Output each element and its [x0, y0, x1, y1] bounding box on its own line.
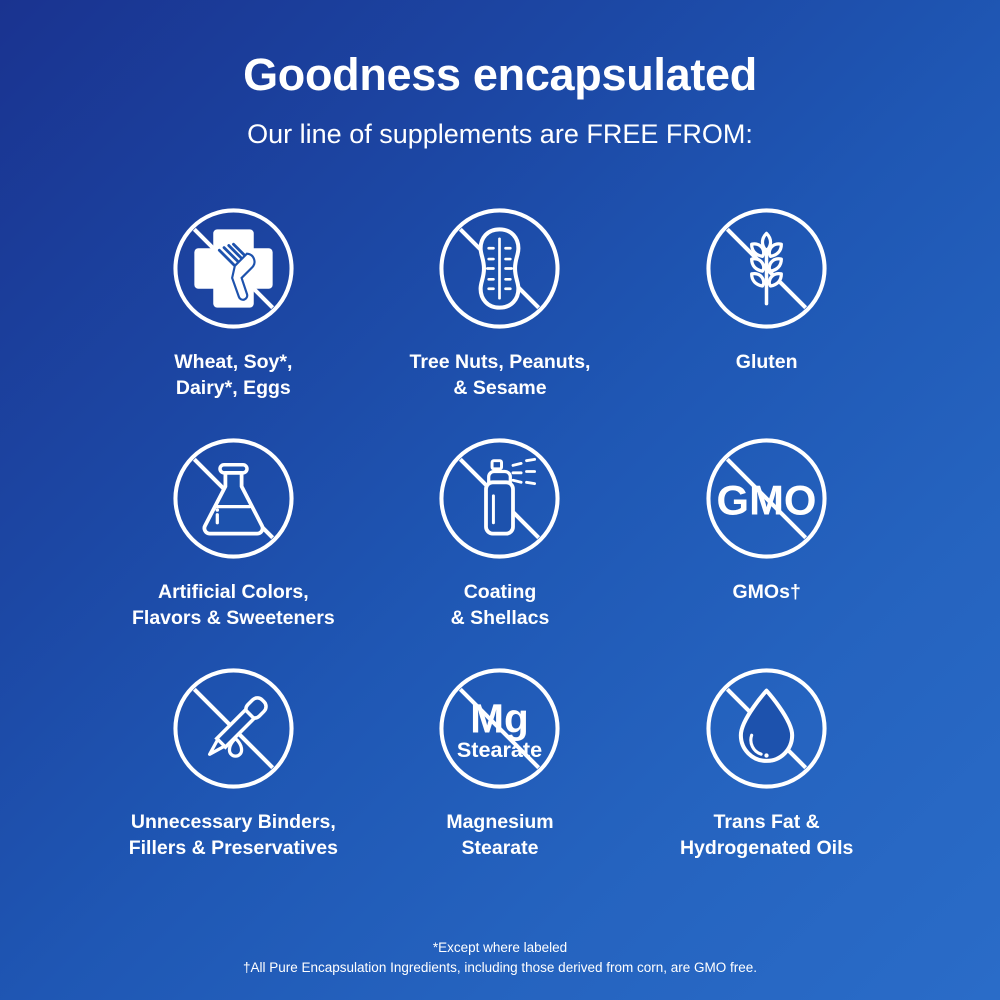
no-wheat-stalk-icon	[699, 201, 834, 336]
badge-label: Unnecessary Binders, Fillers & Preservat…	[129, 810, 338, 862]
free-from-poster: Goodness encapsulated Our line of supple…	[0, 0, 1000, 1000]
badge-nuts: Tree Nuts, Peanuts, & Sesame	[367, 201, 634, 431]
badge-coating: Coating & Shellacs	[367, 431, 634, 661]
magnesium-symbol-text: Mg	[471, 696, 529, 742]
gmo-icon-text: GMO	[717, 477, 817, 524]
badge-gmo: GMO GMOs†	[633, 431, 900, 661]
footnote-dagger: †All Pure Encapsulation Ingredients, inc…	[0, 958, 1000, 978]
no-fork-cross-allergen-icon	[166, 201, 301, 336]
badge-binders: Unnecessary Binders, Fillers & Preservat…	[100, 661, 367, 891]
no-flask-icon	[166, 431, 301, 566]
free-from-grid: Wheat, Soy*, Dairy*, Eggs	[100, 201, 900, 891]
badge-label: Coating & Shellacs	[451, 580, 550, 632]
poster-header: Goodness encapsulated Our line of supple…	[0, 0, 1000, 149]
no-gmo-icon: GMO	[699, 431, 834, 566]
badge-label: Magnesium Stearate	[446, 810, 553, 862]
no-peanut-icon	[432, 201, 567, 336]
badge-label: Gluten	[736, 350, 798, 376]
stearate-text: Stearate	[457, 737, 542, 762]
page-title: Goodness encapsulated	[0, 50, 1000, 100]
no-dropper-icon	[166, 661, 301, 796]
badge-label: Artificial Colors, Flavors & Sweeteners	[132, 580, 335, 632]
no-magnesium-stearate-icon: Mg Stearate	[432, 661, 567, 796]
footnotes: *Except where labeled †All Pure Encapsul…	[0, 938, 1000, 979]
no-oil-droplet-icon	[699, 661, 834, 796]
badge-label: Tree Nuts, Peanuts, & Sesame	[410, 350, 591, 402]
page-subtitle: Our line of supplements are FREE FROM:	[0, 120, 1000, 150]
no-spray-can-icon	[432, 431, 567, 566]
badge-allergens: Wheat, Soy*, Dairy*, Eggs	[100, 201, 367, 431]
badge-artificial-colors: Artificial Colors, Flavors & Sweeteners	[100, 431, 367, 661]
badge-label: Trans Fat & Hydrogenated Oils	[680, 810, 853, 862]
badge-label: Wheat, Soy*, Dairy*, Eggs	[174, 350, 292, 402]
footnote-asterisk: *Except where labeled	[0, 938, 1000, 958]
badge-label: GMOs†	[733, 580, 801, 606]
badge-trans-fat: Trans Fat & Hydrogenated Oils	[633, 661, 900, 891]
badge-magnesium-stearate: Mg Stearate Magnesium Stearate	[367, 661, 634, 891]
badge-gluten: Gluten	[633, 201, 900, 431]
